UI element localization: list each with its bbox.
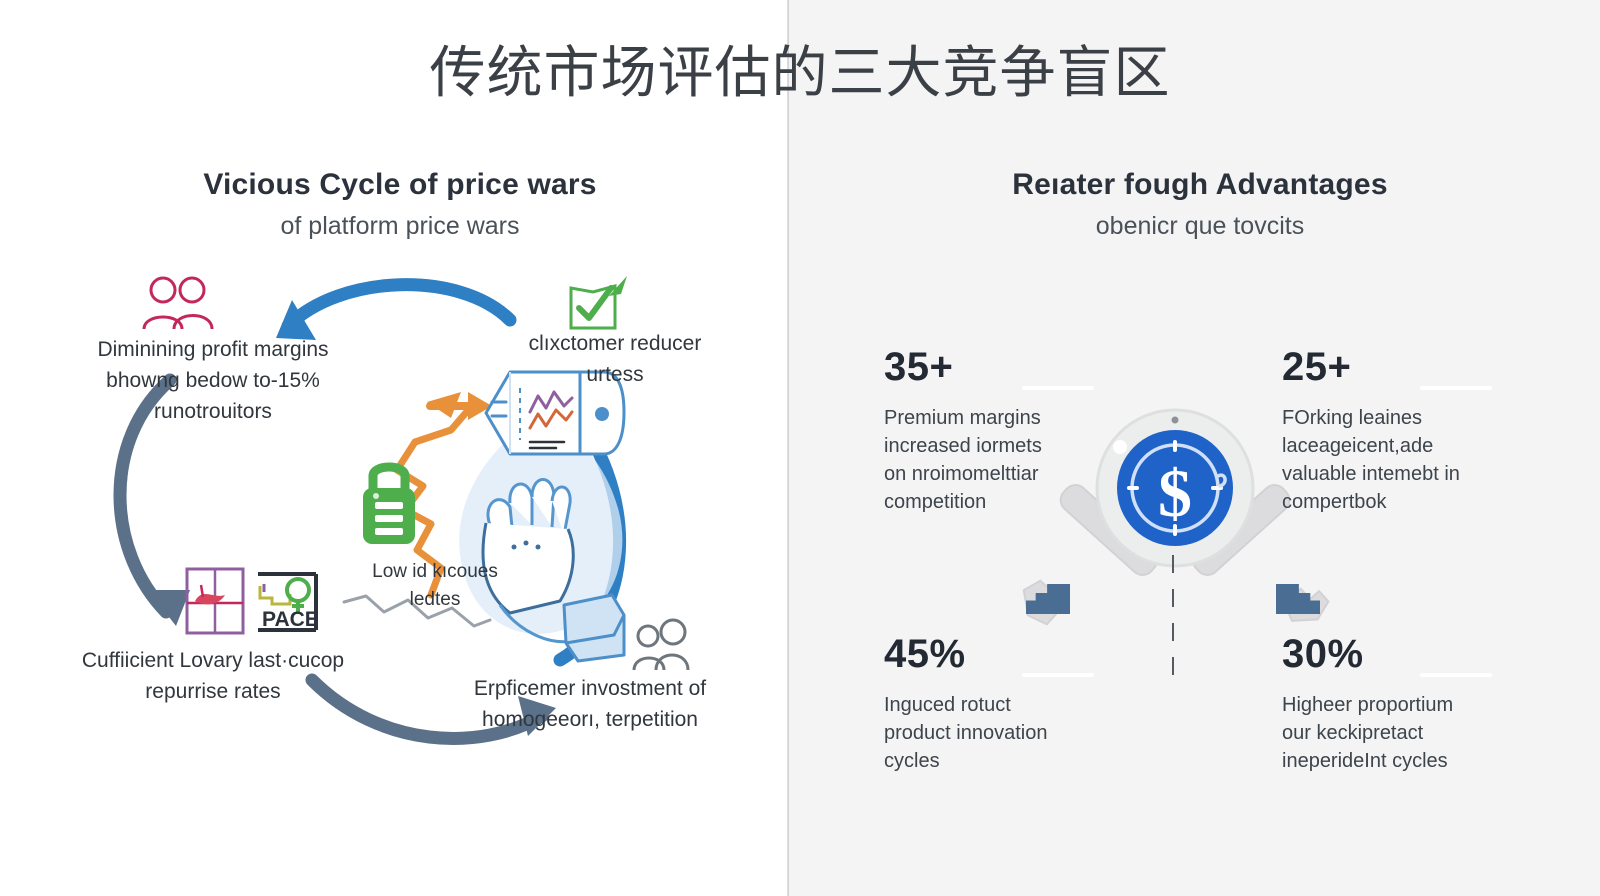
stat-line: competition [884,488,1119,516]
stat-line: laceageicent,ade [1282,432,1517,460]
stat-value: 30% [1282,632,1517,677]
stat-line: ineperideInt cycles [1282,747,1517,775]
stat-rule [1022,673,1094,677]
stat-line: Premium margins [884,404,1119,432]
label-customer-reducer: clıxctomer reducer urtess [500,328,730,390]
stat-value: 45% [884,632,1119,677]
label-line: homogeeorı, terpetition [440,704,740,735]
left-heading-title: Vicious Cycle of price wars [90,168,710,202]
stat-line: product innovation [884,719,1119,747]
left-heading-subtitle: of platform price wars [90,212,710,241]
label-line: Low id kıcoues [345,558,525,586]
growth-chart-green-icon [565,272,633,334]
stat-rule [1420,673,1492,677]
padlock-green-icon [357,452,421,548]
stat-higher-proportion: 30% Higheer proportium our keckipretact … [1282,632,1517,775]
label-line: clıxctomer reducer [500,328,730,359]
right-heading-subtitle: obenicr que tovcits [860,212,1540,241]
stat-line: compertbok [1282,488,1517,516]
stat-line: increased iormets [884,432,1119,460]
center-dashed-divider [1172,555,1174,675]
stat-rule [1022,386,1094,390]
pace-label-icon: PACE [256,568,324,636]
stat-description: Premium margins increased iormets on nro… [884,404,1119,516]
right-section-heading: Reıater fough Advantages obenicr que tov… [860,168,1540,241]
stat-line: our keckipretact [1282,719,1517,747]
label-line: Erpficemer invostment of [440,673,740,704]
label-line: ledtes [345,586,525,614]
stat-rule [1420,386,1492,390]
stat-line: FOrking leaines [1282,404,1517,432]
label-low-loyalty: Low id kıcoues ledtes [345,558,525,614]
grid-purple-icon [183,565,247,637]
pace-icon-text: PACE [262,608,319,631]
stat-product-innovation: 45% Inguced rotuct product innovation cy… [884,632,1119,775]
people-pink-icon [140,275,216,331]
stat-line: Inguced rotuct [884,691,1119,719]
label-line: repurrise rates [48,676,378,707]
infographic-canvas: 传统市场评估的三大竞争盲区 Vicious Cycle of price war… [0,0,1600,896]
label-line: Cuffiicient Lovary last·cucop [48,645,378,676]
stat-description: Higheer proportium our keckipretact inep… [1282,691,1517,775]
label-insufficient-repurchase: Cuffiicient Lovary last·cucop repurrise … [48,645,378,707]
right-heading-title: Reıater fough Advantages [860,168,1540,202]
label-diminishing-margins: Diminining profit margins bhowng bedow t… [48,334,378,427]
page-title: 传统市场评估的三大竞争盲区 [0,28,1600,109]
stat-line: Higheer proportium [1282,691,1517,719]
stat-value: 25+ [1282,345,1517,390]
stat-description: FOrking leaines laceageicent,ade valuabl… [1282,404,1517,516]
label-line: runotrouitors [48,396,378,427]
label-homogeneous-investment: Erpficemer invostment of homogeeorı, ter… [440,673,740,735]
label-line: bhowng bedow to-15% [48,365,378,396]
panel-divider [787,0,789,896]
stat-value: 35+ [884,345,1119,390]
stat-working-leaders: 25+ FOrking leaines laceageicent,ade val… [1282,345,1517,516]
people-gray-icon [630,620,692,672]
stat-premium-margins: 35+ Premium margins increased iormets on… [884,345,1119,516]
stat-line: cycles [884,747,1119,775]
label-line: Diminining profit margins [48,334,378,365]
stat-description: Inguced rotuct product innovation cycles [884,691,1119,775]
left-section-heading: Vicious Cycle of price wars of platform … [90,168,710,241]
label-line: urtess [500,359,730,390]
stat-line: on nroimomelttiar [884,460,1119,488]
stat-line: valuable intemebt in [1282,460,1517,488]
dollar-symbol: $ [1158,455,1192,531]
